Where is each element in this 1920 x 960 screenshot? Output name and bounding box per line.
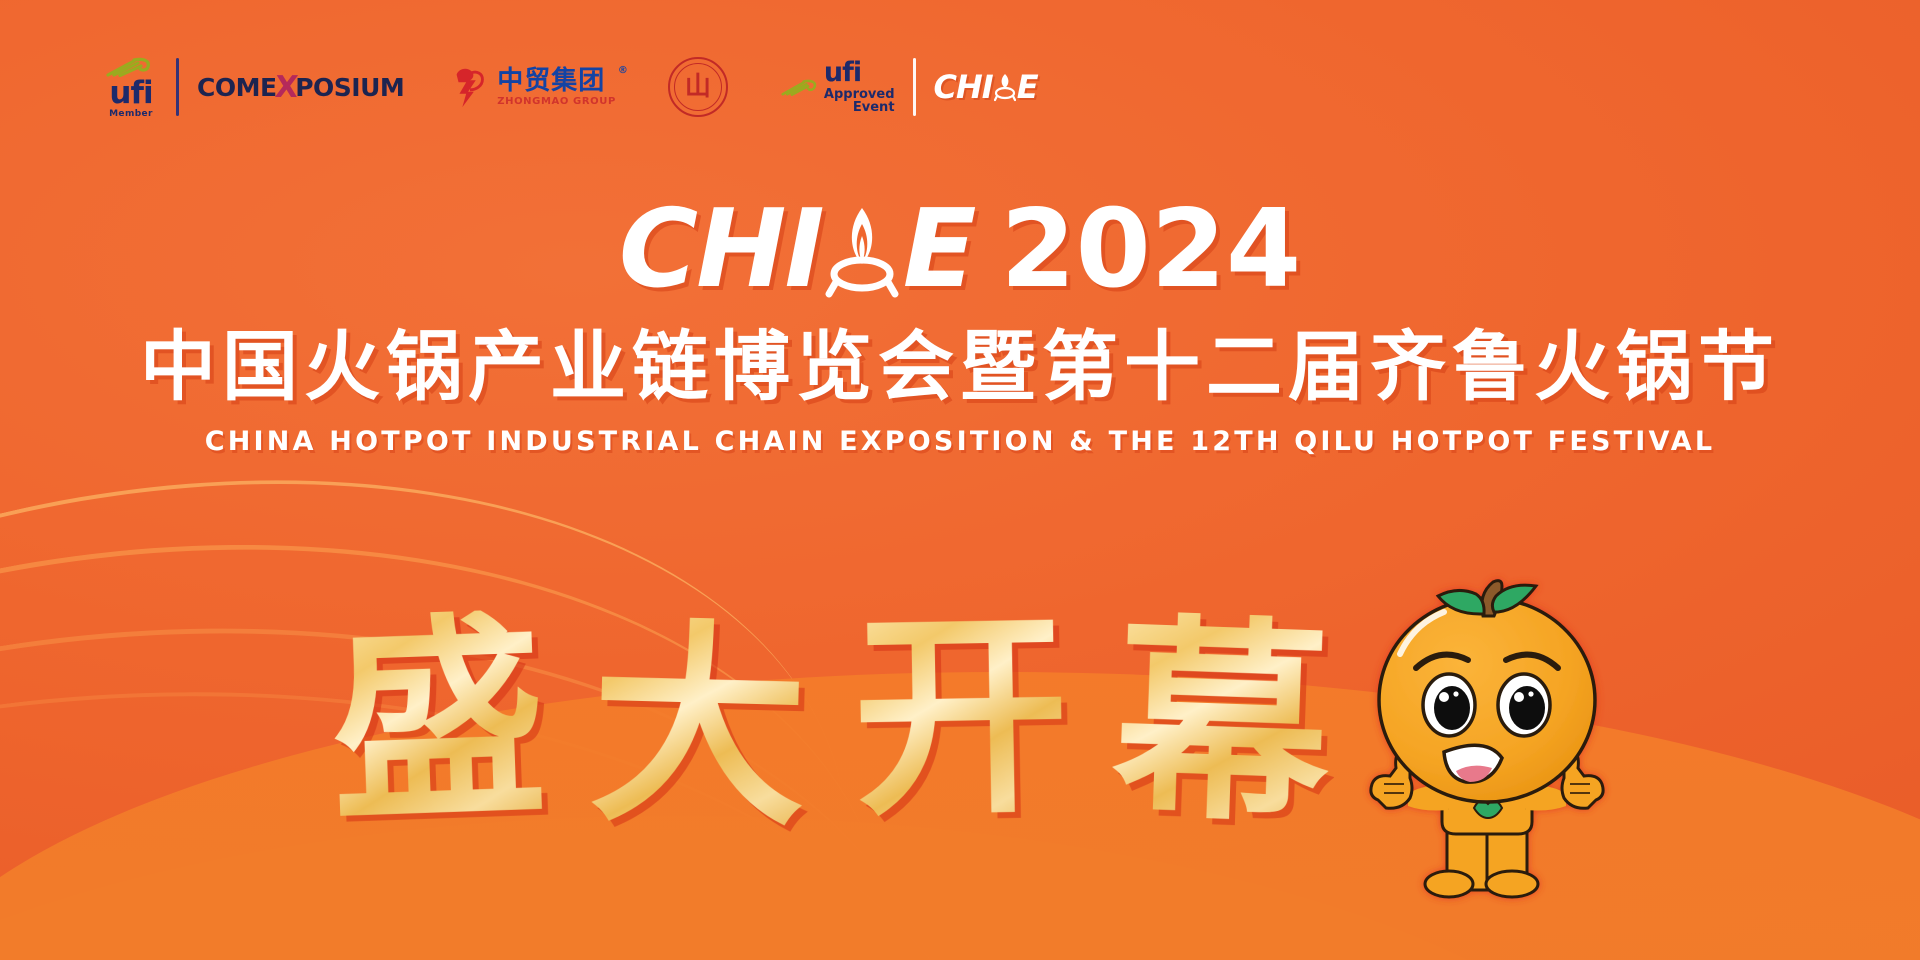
ufi-event-label: Event xyxy=(853,101,895,115)
ufi-approved-wordmark: ufi xyxy=(824,59,895,87)
ufi-approved-wing-icon xyxy=(780,74,820,100)
comexposium-part2: POSIUM xyxy=(295,73,404,102)
calligraphy-char-3: 开 xyxy=(851,606,1071,826)
event-brand-tail: E xyxy=(903,196,975,304)
event-title-main: CHI E 2024 xyxy=(619,196,1301,304)
chice-logo-text: CHI xyxy=(934,68,993,106)
event-title-chinese: 中国火锅产业链博览会暨第十二届齐鲁火锅节 xyxy=(0,326,1920,408)
logo-divider-2 xyxy=(913,58,916,116)
ufi-wordmark: ufi xyxy=(109,78,152,109)
logo-divider-1 xyxy=(176,58,179,116)
calligraphy-slogan: 盛 大 开 幕 xyxy=(330,570,1330,870)
sponsor-logo-bar: ufi Member COME X POSIUM 中贸集团® xyxy=(104,52,1038,122)
event-year: 2024 xyxy=(1001,196,1302,304)
hero-block: CHI E 2024 中国火锅产业链博览会暨第十二届齐鲁火锅节 CHINA HO… xyxy=(0,196,1920,457)
hotpot-icon-small xyxy=(994,72,1016,102)
calligraphy-char-1: 盛 xyxy=(326,608,549,831)
event-title-english: CHINA HOTPOT INDUSTRIAL CHAIN EXPOSITION… xyxy=(0,426,1920,457)
zhongmao-group-logo: 中贸集团® ZHONGMAO GROUP xyxy=(450,52,616,122)
seal-glyph: 山 xyxy=(685,74,711,100)
chice-logo: CHI E xyxy=(934,52,1038,122)
event-brand: CHI xyxy=(619,196,823,304)
comexposium-part1: COME xyxy=(197,73,277,102)
calligraphy-char-4: 幕 xyxy=(1110,610,1333,833)
hotpot-orange-mascot xyxy=(1352,572,1622,912)
registered-mark: ® xyxy=(618,66,629,76)
ufi-member-logo: ufi Member xyxy=(104,52,158,122)
zhongmao-english-name: ZHONGMAO GROUP xyxy=(497,97,616,107)
ufi-approved-label: Approved xyxy=(824,88,895,102)
shandong-association-seal: 山 xyxy=(668,52,728,122)
comexposium-logo: COME X POSIUM xyxy=(197,52,404,122)
zhongmao-chinese-name: 中贸集团® xyxy=(497,68,616,94)
ufi-member-label: Member xyxy=(109,110,153,119)
chice-logo-tail: E xyxy=(1017,68,1038,106)
poster-canvas: ufi Member COME X POSIUM 中贸集团® xyxy=(0,0,1920,960)
calligraphy-char-2: 大 xyxy=(588,615,810,837)
zhongmao-dragon-icon xyxy=(450,65,490,109)
ufi-approved-event-logo: ufi Approved Event xyxy=(780,52,895,122)
comexposium-x: X xyxy=(273,70,298,105)
hotpot-icon xyxy=(825,202,899,298)
